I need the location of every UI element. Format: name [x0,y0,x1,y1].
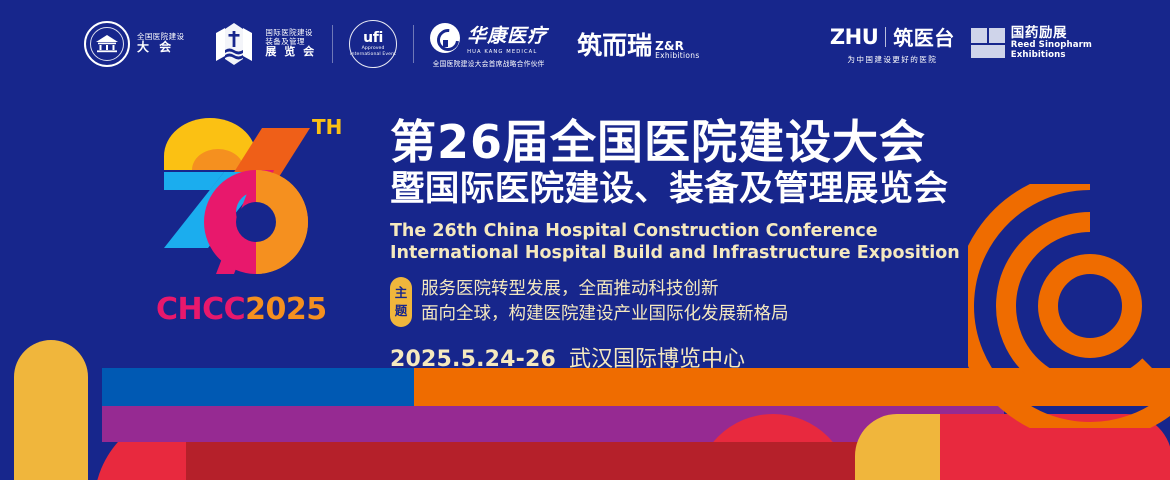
logo-ufi[interactable]: ufi Approved International Event [349,20,397,68]
huakang-en: HUA KANG MEDICAL [467,49,547,55]
snowflake-icon [210,21,258,67]
logo-chcc-seal-text: 全国医院建设 大 会 [137,33,184,55]
logo-divider-2 [413,25,414,63]
reed-cn: 国药励展 [1011,26,1092,41]
theme-badge: 主 题 [390,277,412,327]
logo-chcc-seal-line2: 大 会 [137,41,184,54]
zr-cn: 筑而瑞 [577,26,652,62]
zhu-cn: 筑医台 [893,22,955,51]
title-cn-line1: 第26届全国医院建设大会 [390,118,920,168]
logo-group-left: 全国医院建设 大 会 [84,20,700,68]
theme-line-1: 服务医院转型发展，全面推动科技创新 [421,277,789,302]
chcc-wordmark: CHCC2025 [156,292,362,327]
chcc-event-banner: 全国医院建设 大 会 [0,0,1170,480]
zr-en-bottom: Exhibitions [655,52,699,60]
decor-pill-yellow [14,340,88,480]
theme-line-2: 面向全球，构建医院建设产业国际化发展新格局 [421,302,789,327]
logo-zhuyitai[interactable]: ZHU 筑医台 为中国建设更好的医院 [830,22,955,65]
event-title-block: 第26届全国医院建设大会 暨国际医院建设、装备及管理展览会 The 26th C… [390,118,920,373]
logo-expo-seal[interactable]: 国际医院建设 装备及管理 展 览 会 [210,21,316,67]
logo-divider-1 [332,25,333,63]
title-en-line1: The 26th China Hospital Construction Con… [390,220,920,242]
chcc-wordmark-year: 2025 [245,292,327,327]
reed-sinopharm-mark-icon [971,28,1005,58]
event-venue: 武汉国际博览中心 [569,347,745,372]
zhu-sub: 为中国建设更好的医院 [847,54,937,65]
logo-expo-seal-text: 国际医院建设 装备及管理 展 览 会 [265,29,316,58]
svg-text:TH: TH [312,115,342,139]
logo-group-right: ZHU 筑医台 为中国建设更好的医院 国药励展 Reed Sinopharm E… [830,22,1092,65]
logo-zr[interactable]: 筑而瑞 Z&R Exhibitions [577,26,699,62]
theme-badge-char1: 主 [395,284,408,302]
partner-logo-bar: 全国医院建设 大 会 [0,20,1170,82]
chcc-26-numeral-icon: TH [152,108,342,288]
zhu-divider [885,27,886,47]
chcc-wordmark-letters: CHCC [156,292,245,327]
theme-badge-char2: 题 [395,302,408,320]
reed-en2: Exhibitions [1011,51,1092,61]
huakang-sub: 全国医院建设大会首席战略合作伙伴 [433,58,545,68]
theme-lines: 服务医院转型发展，全面推动科技创新 面向全球，构建医院建设产业国际化发展新格局 [421,277,789,327]
date-venue-line: 2025.5.24-26武汉国际博览中心 [390,341,920,373]
zhu-en: ZHU [830,25,878,49]
logo-chcc-seal[interactable]: 全国医院建设 大 会 [84,21,184,67]
huakang-mark-icon [430,23,460,53]
chcc-anniversary-logo: TH CHCC2025 [152,108,362,338]
event-date: 2025.5.24-26 [390,347,556,372]
title-cn-line2: 暨国际医院建设、装备及管理展览会 [390,169,920,210]
decor-concentric-c-icon [968,184,1170,428]
logo-huakang[interactable]: 华康医疗 HUA KANG MEDICAL 全国医院建设大会首席战略合作伙伴 [430,21,547,68]
title-en-block: The 26th China Hospital Construction Con… [390,220,920,264]
title-en-line2: International Hospital Build and Infrast… [390,242,920,264]
huakang-cn: 华康医疗 [467,21,547,48]
logo-reed-sinopharm[interactable]: 国药励展 Reed Sinopharm Exhibitions [971,26,1092,60]
ufi-subtitle: Approved International Event [350,46,396,57]
logo-expo-seal-line3: 展 览 会 [265,46,316,58]
chcc-seal-icon [84,21,130,67]
ufi-name: ufi [363,30,383,46]
theme-section: 主 题 服务医院转型发展，全面推动科技创新 面向全球，构建医院建设产业国际化发展… [390,277,920,327]
